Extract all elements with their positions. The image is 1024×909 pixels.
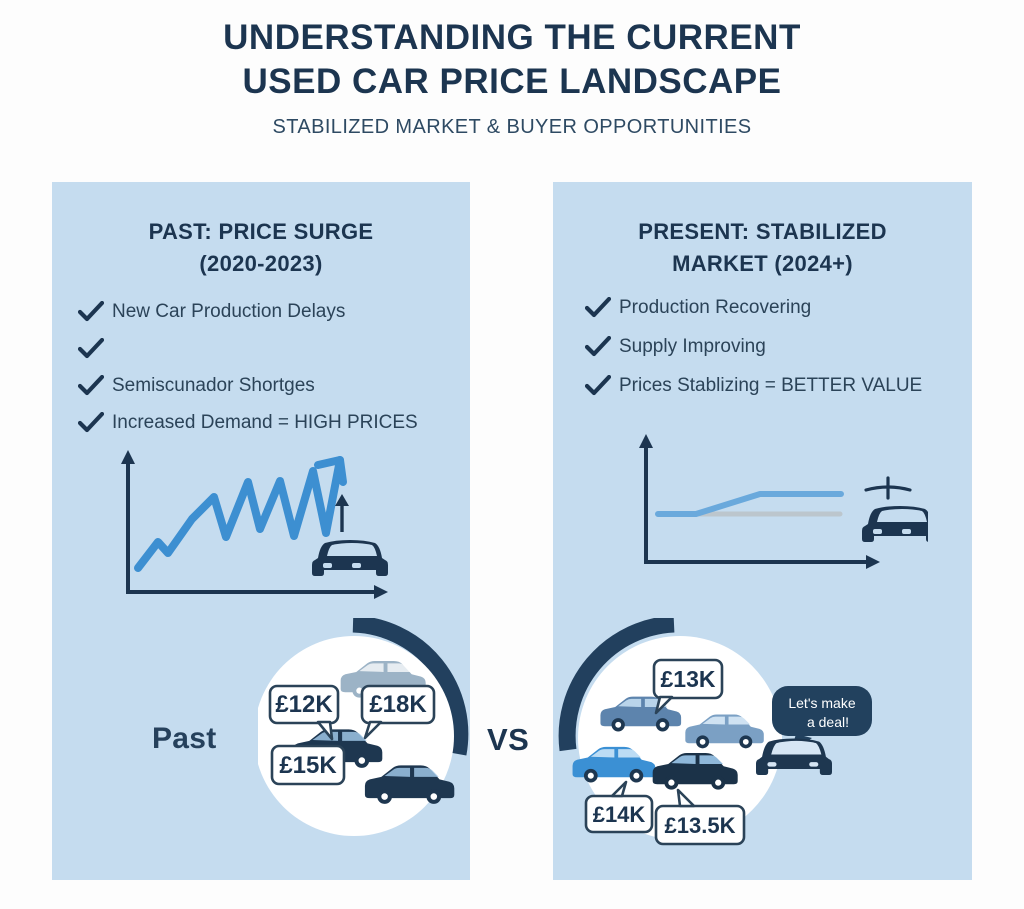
price-tag: £15K [272,746,344,784]
panel-past-title: PAST: PRICE SURGE (2020-2023) [52,216,470,280]
panel-past-bullet-list: New Car Production Delays Semiscunador S… [78,298,496,446]
price-tag-label: £12K [275,691,333,718]
check-icon [585,297,611,319]
check-icon [78,338,104,360]
list-item-label: Increased Demand = HIGH PRICES [112,412,418,434]
header: UNDERSTANDING THE CURRENT USED CAR PRICE… [0,16,1024,139]
chart-past-price-surge [96,440,406,615]
list-item: New Car Production Delays [78,298,496,326]
check-icon [78,301,104,323]
list-item: Prices Stablizing = BETTER VALUE [585,372,1004,400]
list-item: Production Recovering [585,294,1004,322]
car-front-icon [312,540,388,576]
price-tag-label: £14K [593,802,646,827]
stability-bar-icon [866,478,910,498]
chart-present-stabilized [608,420,928,600]
check-icon [78,412,104,434]
panel-past-title-line-1: PAST: PRICE SURGE [52,216,470,248]
price-tag-label: £18K [369,691,427,718]
check-icon [585,375,611,397]
list-item-label: Supply Improving [619,336,766,358]
list-item-label: New Car Production Delays [112,301,345,323]
panel-present-bullet-list: Production Recovering Supply Improving P… [585,294,1004,411]
list-item [78,335,496,363]
panel-present-title-line-2: MARKET (2024+) [553,248,972,280]
panel-past-title-line-2: (2020-2023) [52,248,470,280]
list-item: Increased Demand = HIGH PRICES [78,409,496,437]
chart-axes [639,434,880,569]
list-item-label: Production Recovering [619,297,811,319]
panel-present-title-line-1: PRESENT: STABILIZED [553,216,972,248]
chart-series-price-index [138,460,343,568]
list-item-label: Semiscunador Shortges [112,375,315,397]
price-tag-label: £15K [279,752,337,779]
list-item-label: Prices Stablizing = BETTER VALUE [619,375,922,397]
speech-bubble-line-1: Let's make [788,695,855,711]
check-icon [585,336,611,358]
car-front-icon [862,506,928,542]
page-title-line-1: UNDERSTANDING THE CURRENT [0,16,1024,60]
panel-present-title: PRESENT: STABILIZED MARKET (2024+) [553,216,972,280]
chart-series-price-index [658,494,841,514]
speech-bubble-line-2: a deal! [807,714,849,730]
chart-axes [121,450,388,599]
car-front-icon [756,739,832,775]
label-vs: VS [487,722,529,758]
price-tag-label: £13.5K [665,813,736,838]
dealer-speech-group: Let's make a deal! [752,682,902,802]
list-item: Semiscunador Shortges [78,372,496,400]
page-subtitle: STABILIZED MARKET & BUYER OPPORTUNITIES [0,116,1024,139]
page-title-line-2: USED CAR PRICE LANDSCAPE [0,60,1024,104]
up-arrow-icon [335,494,349,532]
past-price-cluster: £12K £18K £15K [258,618,490,850]
label-past: Past [152,722,217,756]
infographic-canvas: UNDERSTANDING THE CURRENT USED CAR PRICE… [0,0,1024,909]
price-tag-label: £13K [661,666,716,692]
check-icon [78,375,104,397]
list-item: Supply Improving [585,333,1004,361]
